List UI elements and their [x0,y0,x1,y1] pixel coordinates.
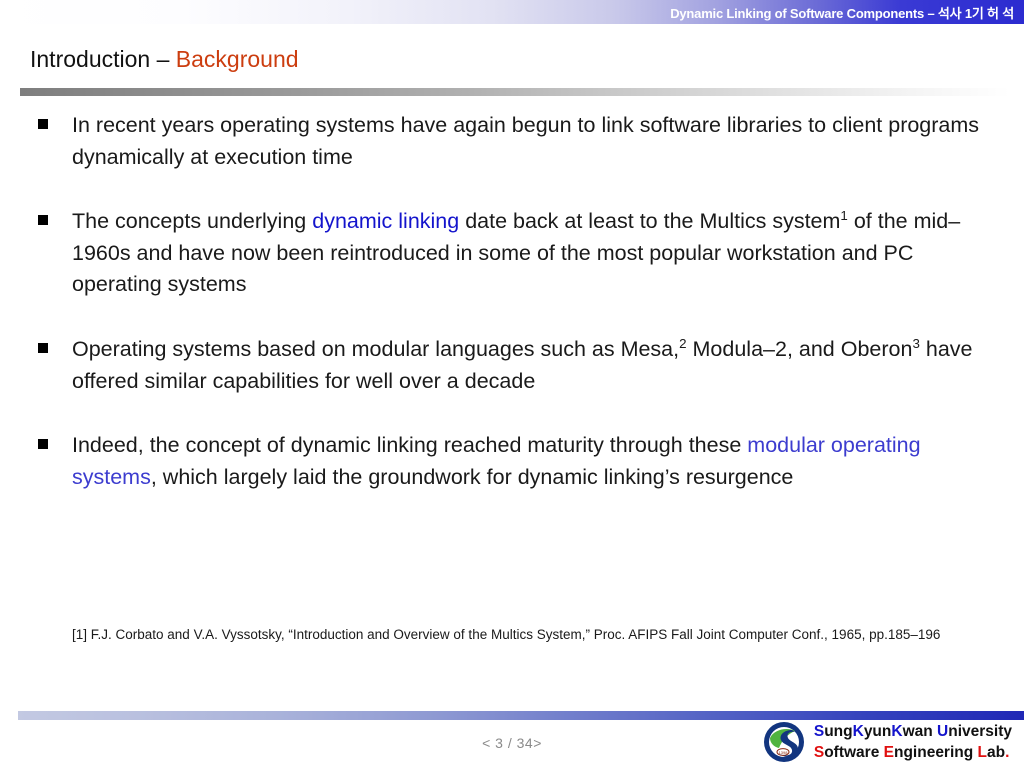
bullet-text: The concepts underlying dynamic linking … [72,209,960,296]
footnote-reference: [1] F.J. Corbato and V.A. Vyssotsky, “In… [72,624,972,646]
bullet-square-icon [38,439,48,449]
page-title-main: Introduction [30,46,150,72]
svg-text:1398: 1398 [778,750,788,755]
bullet-item: Indeed, the concept of dynamic linking r… [30,430,995,493]
title-divider [20,88,1010,96]
logo-line-lab: Software Engineering Lab. [814,743,1012,762]
logo-text-segment: oftware [824,744,883,761]
text-run: , which largely laid the groundwork for … [151,465,794,489]
logo-text-segment: L [978,744,987,761]
bullet-square-icon [38,215,48,225]
bullet-list: In recent years operating systems have a… [30,110,995,526]
skku-emblem-icon: 1398 [762,720,806,764]
logo-text-segment: S [814,723,824,740]
logo-text-segment: wan [903,723,937,740]
top-banner: Dynamic Linking of Software Components –… [0,0,1024,24]
logo-text-segment: niversity [948,723,1012,740]
highlighted-phrase: dynamic linking [312,209,459,233]
university-logo: 1398 SungKyunKwan University Software En… [762,720,1012,764]
logo-text-segment: ung [824,723,852,740]
page-title: Introduction – Background [30,46,299,73]
logo-text-segment: U [937,723,948,740]
page-title-separator: – [157,46,170,72]
logo-text-segment: yun [864,723,892,740]
footnote-marker: 3 [912,336,919,351]
text-run: Modula–2, and Oberon [687,337,913,361]
footnote-marker: 1 [840,208,847,223]
logo-text-segment: E [884,744,894,761]
bullet-item: In recent years operating systems have a… [30,110,995,173]
text-run: Indeed, the concept of dynamic linking r… [72,433,747,457]
logo-line-university: SungKyunKwan University [814,722,1012,741]
logo-text: SungKyunKwan University Software Enginee… [814,722,1012,762]
logo-text-segment: K [891,723,902,740]
bullet-item: Operating systems based on modular langu… [30,334,995,397]
footer-divider [18,711,1024,720]
logo-text-segment: K [853,723,864,740]
text-run: In recent years operating systems have a… [72,113,979,169]
bullet-text: Indeed, the concept of dynamic linking r… [72,433,921,489]
bullet-text: Operating systems based on modular langu… [72,337,973,393]
presentation-title: Dynamic Linking of Software Components –… [670,3,1014,22]
bullet-text: In recent years operating systems have a… [72,113,979,169]
footnote-marker: 2 [679,336,686,351]
logo-text-segment: ab [987,744,1005,761]
logo-text-segment: S [814,744,824,761]
text-run: date back at least to the Multics system [459,209,840,233]
bullet-square-icon [38,119,48,129]
logo-text-segment: ngineering [894,744,978,761]
text-run: Operating systems based on modular langu… [72,337,679,361]
slide-canvas: Dynamic Linking of Software Components –… [0,0,1024,768]
text-run: The concepts underlying [72,209,312,233]
page-title-accent: Background [176,46,299,72]
bullet-item: The concepts underlying dynamic linking … [30,206,995,301]
bullet-square-icon [38,343,48,353]
logo-text-segment: . [1005,744,1009,761]
